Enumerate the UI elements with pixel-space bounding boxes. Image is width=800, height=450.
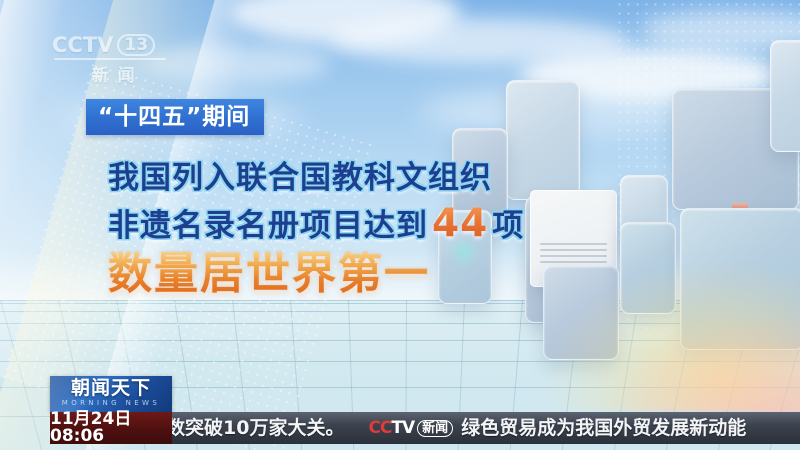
decor-panel <box>770 40 800 152</box>
ticker-logo-tv: TV <box>391 418 414 438</box>
news-ticker: 数突破10万家大关。 CCTV 新闻 绿色贸易成为我国外贸发展新动能 <box>172 412 800 444</box>
ticker-cctv-news-logo: CCTV 新闻 <box>368 420 453 437</box>
program-name-en: MORNING NEWS <box>50 400 172 407</box>
program-name: 朝闻天下 <box>50 379 172 398</box>
topic-banner-label: “十四五”期间 <box>98 106 250 129</box>
program-logo: 朝闻天下 MORNING NEWS <box>50 376 172 412</box>
broadcast-screen: CCTV 13 新闻 “十四五”期间 我国列入联合国教科文组织 非遗名录名册项目… <box>0 0 800 450</box>
datetime-text: 11月24日08:06 <box>50 411 172 445</box>
channel-logo-text: CCTV <box>52 35 113 56</box>
ticker-logo-cc: CCTV <box>368 420 414 437</box>
channel-logo: CCTV 13 新闻 <box>52 34 174 86</box>
channel-logo-number: 13 <box>117 34 155 56</box>
doc-line <box>540 243 606 245</box>
doc-line <box>540 249 606 251</box>
ticker-logo-cc-red: CC <box>368 418 391 438</box>
doc-line <box>540 255 606 257</box>
ticker-headline: 绿色贸易成为我国外贸发展新动能 <box>461 419 746 438</box>
ticker-logo-news: 新闻 <box>417 420 453 437</box>
headline-line-3: 数量居世界第一 <box>108 252 430 296</box>
headline-stat-number: 44 <box>428 201 492 246</box>
channel-logo-sub: 新闻 <box>52 61 174 86</box>
ticker-text: 数突破10万家大关。 <box>172 419 344 438</box>
decor-panel <box>506 80 580 200</box>
headline-line-2-suffix: 项 <box>492 208 524 244</box>
headline-line-1: 我国列入联合国教科文组织 <box>108 163 492 194</box>
channel-logo-rule <box>54 58 166 60</box>
headline-line-2-prefix: 非遗名录名册项目达到 <box>108 208 428 244</box>
datetime-badge: 11月24日08:06 <box>50 412 172 444</box>
topic-banner: “十四五”期间 <box>86 99 264 135</box>
headline-line-2: 非遗名录名册项目达到44项 <box>108 204 524 243</box>
